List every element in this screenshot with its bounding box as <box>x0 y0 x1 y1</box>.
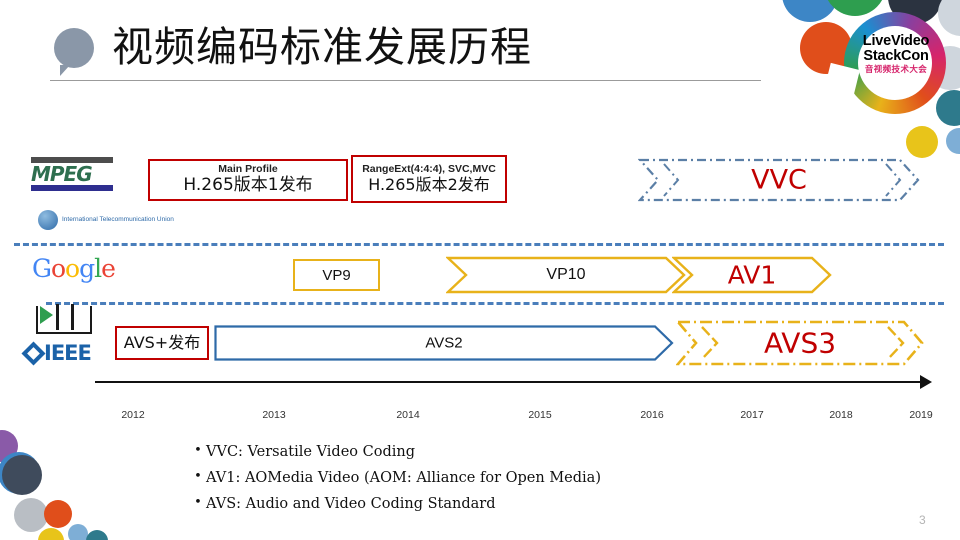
logo-line-2: StackCon <box>850 49 942 64</box>
avs3-label: AVS3 <box>676 327 924 360</box>
bullet-marker: • <box>190 469 206 485</box>
milestone-vvc[interactable]: VVC <box>638 158 920 202</box>
row-separator-2 <box>46 302 944 305</box>
avs2-label: AVS2 <box>214 335 674 352</box>
bubble-teal-2 <box>86 530 108 540</box>
google-logo: Google <box>32 254 115 283</box>
year-label-2013: 2013 <box>262 409 285 421</box>
brand-logo: LiveVideo StackCon 音视频技术大会 <box>784 0 960 144</box>
slide-root: 视频编码标准发展历程 LiveVideo StackCon 音视频技术大会 MP… <box>0 0 960 540</box>
title-divider <box>50 80 761 81</box>
h265-v2-subtitle: RangeExt(4:4:4), SVC,MVC <box>362 164 496 176</box>
year-label-2018: 2018 <box>829 409 852 421</box>
year-label-2012: 2012 <box>121 409 144 421</box>
avs-plus-label: AVS+发布 <box>124 334 200 352</box>
av1-label: AV1 <box>672 261 832 290</box>
legend-list: • VVC: Versatile Video Coding • AV1: AOM… <box>190 443 601 521</box>
year-label-2014: 2014 <box>396 409 419 421</box>
year-label-2016: 2016 <box>640 409 663 421</box>
vvc-label: VVC <box>638 165 920 196</box>
year-label-2019: 2019 <box>909 409 932 421</box>
milestone-av1[interactable]: AV1 <box>672 256 832 294</box>
milestone-vp10[interactable]: VP10 <box>446 256 686 294</box>
ieee-logo: IEEE <box>25 341 91 365</box>
bubble-orange-2 <box>44 500 72 528</box>
logo-line-3: 音视频技术大会 <box>850 65 942 74</box>
bullet-marker: • <box>190 495 206 511</box>
page-title: 视频编码标准发展历程 <box>112 18 532 76</box>
title-bubble-icon <box>54 28 94 68</box>
year-label-2017: 2017 <box>740 409 763 421</box>
milestone-avs-plus[interactable]: AVS+发布 <box>115 326 209 360</box>
logo-line-1: LiveVideo <box>850 34 942 49</box>
list-item: • AVS: Audio and Video Coding Standard <box>190 495 601 513</box>
bubble-yellow-2 <box>38 528 64 540</box>
milestone-avs3[interactable]: AVS3 <box>676 320 924 366</box>
bullet-text-av1: AV1: AOMedia Video (AOM: Alliance for Op… <box>206 469 601 487</box>
bullet-text-vvc: VVC: Versatile Video Coding <box>206 443 415 461</box>
list-item: • VVC: Versatile Video Coding <box>190 443 601 461</box>
page-number: 3 <box>919 513 926 527</box>
bullet-marker: • <box>190 443 206 459</box>
row-separator-1 <box>14 243 944 246</box>
vp9-label: VP9 <box>322 267 350 284</box>
ieee-diamond-icon <box>21 341 45 365</box>
milestone-h265-v2[interactable]: RangeExt(4:4:4), SVC,MVC H.265版本2发布 <box>351 155 507 203</box>
mpeg-logo: MPEG <box>31 157 113 191</box>
bubble-dark-2 <box>2 455 42 495</box>
bubble-gray-3 <box>14 498 48 532</box>
milestone-avs2[interactable]: AVS2 <box>214 325 674 361</box>
itu-logo: International Telecommunication Union <box>38 210 174 230</box>
year-label-2015: 2015 <box>528 409 551 421</box>
bullet-text-avs: AVS: Audio and Video Coding Standard <box>206 495 496 513</box>
itu-caption: International Telecommunication Union <box>62 216 174 224</box>
list-item: • AV1: AOMedia Video (AOM: Alliance for … <box>190 469 601 487</box>
milestone-vp9[interactable]: VP9 <box>293 259 380 291</box>
avs-logo <box>36 306 92 334</box>
mpeg-wordmark: MPEG <box>31 163 113 185</box>
timeline-axis <box>95 381 923 383</box>
timeline-arrow-icon <box>920 375 932 389</box>
itu-globe-icon <box>38 210 58 230</box>
vp10-label: VP10 <box>446 266 686 284</box>
milestone-h265-v1[interactable]: Main Profile H.265版本1发布 <box>148 159 348 201</box>
bubble-lightblue-2 <box>68 524 88 540</box>
h265-v2-label: H.265版本2发布 <box>368 176 490 194</box>
ieee-wordmark: IEEE <box>44 341 91 365</box>
h265-v1-label: H.265版本1发布 <box>183 176 312 196</box>
